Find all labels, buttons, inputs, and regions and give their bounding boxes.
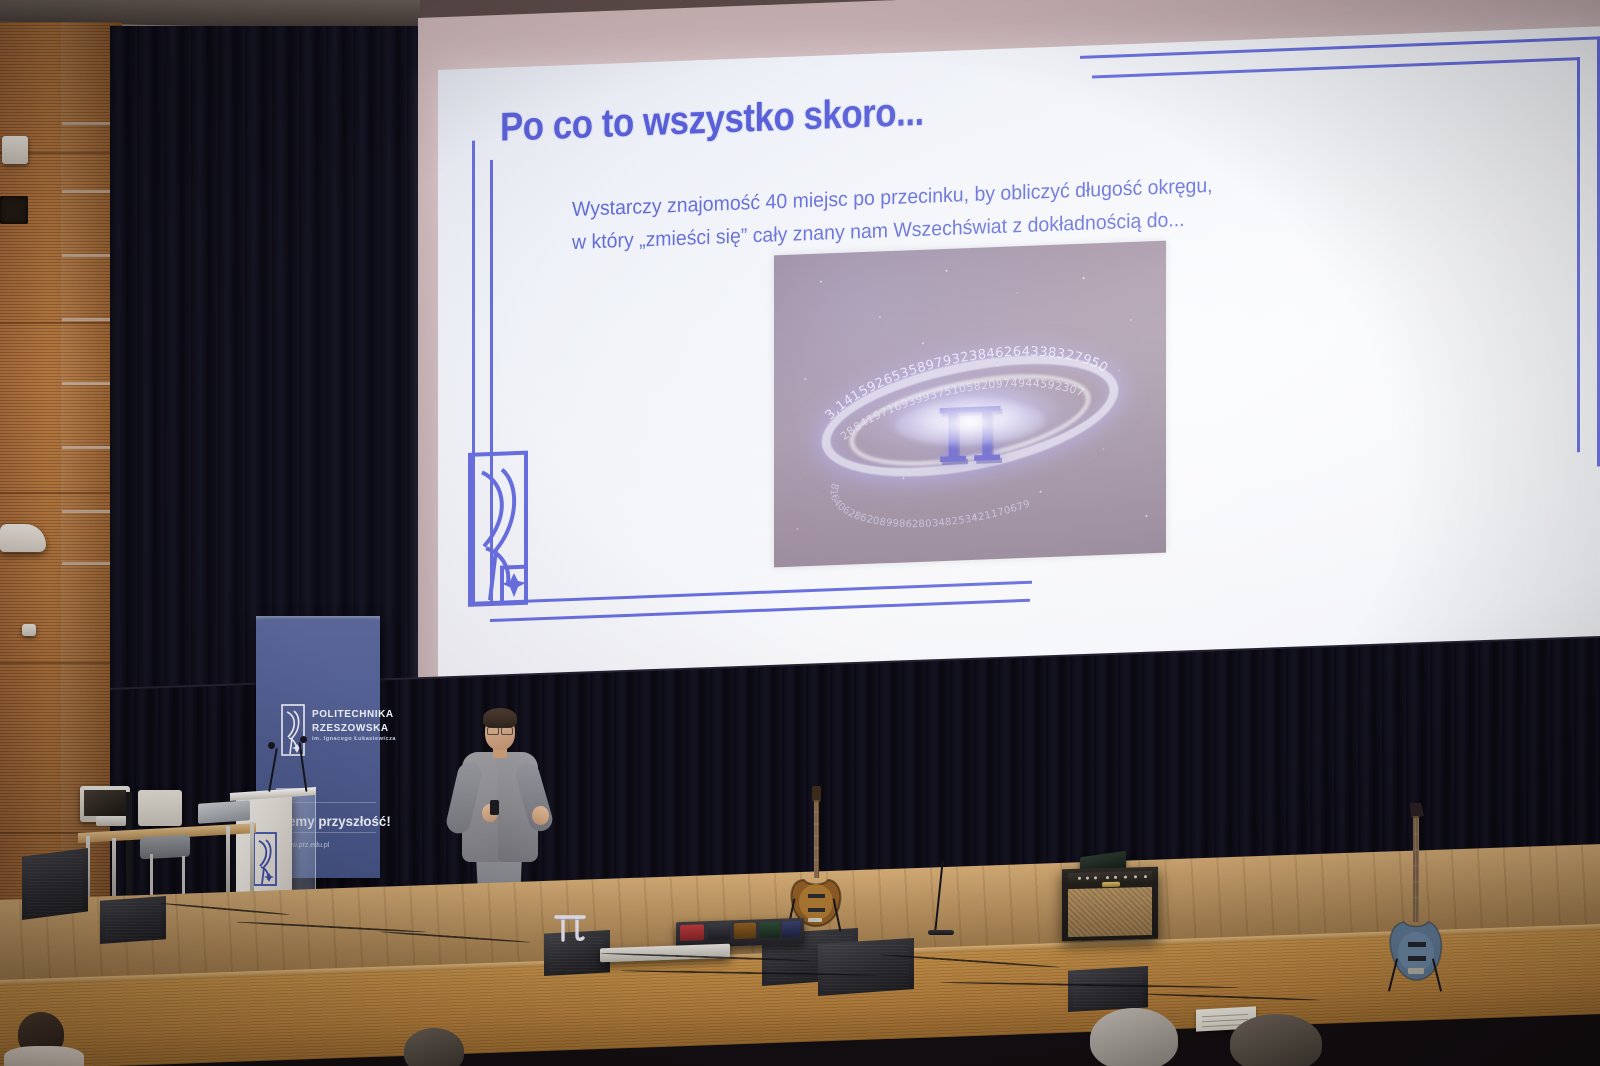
- pedal-5[interactable]: [782, 921, 800, 938]
- slide-body-text: Wystarczy znajomość 40 miejsc po przecin…: [572, 161, 1427, 260]
- audience-head-4: [1230, 1014, 1322, 1066]
- decoration-bottomleft-line-inner: [490, 599, 1030, 622]
- desk-laptop: [198, 800, 250, 824]
- banner-org-line-3: im. Ignacego Łukasiewicza: [312, 736, 396, 742]
- speaker-hair: [483, 708, 517, 728]
- podium-mic-capsule-left: [268, 742, 275, 749]
- decoration-topright-vline-inner: [1577, 57, 1580, 452]
- wall-switch-plate: [22, 624, 36, 636]
- amp-speaker-grille: [1068, 887, 1152, 937]
- desk-device-box: [96, 816, 126, 826]
- desk-monitor-screen: [84, 790, 126, 816]
- decoration-topright-line-inner: [1092, 57, 1580, 78]
- pi-sculpture-prop: [551, 908, 589, 944]
- pedal-3[interactable]: [734, 922, 756, 939]
- slide-title: Po co to wszystko skoro...: [500, 90, 924, 151]
- desktop-computer: [138, 790, 182, 826]
- audience-head-2: [404, 1028, 464, 1066]
- banner-org-line-2: RZESZOWSKA: [312, 722, 389, 734]
- bass-guitar: [1384, 800, 1446, 990]
- audience-head-3: [1090, 1008, 1178, 1066]
- stage-monitor-tech: [100, 896, 166, 944]
- stage-monitor-right: [1068, 966, 1148, 1012]
- eyeglasses-icon: [487, 726, 513, 732]
- pedal-1[interactable]: [680, 924, 704, 941]
- audience-shoulders-1: [4, 1046, 84, 1066]
- wall-box-fixture: [2, 136, 28, 164]
- presentation-clicker: [490, 800, 499, 815]
- stage-monitor-center-2: [818, 938, 914, 996]
- svg-text:816406286208998628034825342117: 8164062862089986280348253421170679: [828, 474, 1032, 533]
- pr-monogram-logo: [462, 448, 536, 609]
- banner-org-line-1: POLITECHNIKA: [312, 708, 394, 720]
- pi-digits-ring-text: 3,14159265358979323846264338327950 28841…: [774, 241, 1166, 568]
- pedalboard: [676, 918, 804, 948]
- guitar-amplifier: [1062, 867, 1158, 942]
- pi-galaxy-image: π 3,14159265358979323846264338327950: [774, 241, 1166, 568]
- stage-monitor-left: [22, 848, 88, 920]
- monitor-arm: [126, 792, 132, 904]
- wall-vent: [0, 196, 28, 224]
- podium-mic-capsule-right: [300, 736, 307, 743]
- banner-pr-logo: [280, 704, 306, 756]
- amp-brand-badge: [1102, 882, 1120, 887]
- presentation-slide: Po co to wszystko skoro... Wystarczy zna…: [438, 26, 1600, 742]
- pedal-4[interactable]: [760, 922, 780, 939]
- amp-mic-base: [928, 930, 954, 935]
- speaker-hand-right: [532, 806, 549, 825]
- lecture-hall-scene: Po co to wszystko skoro... Wystarczy zna…: [0, 0, 1600, 1066]
- pedal-2[interactable]: [708, 923, 730, 940]
